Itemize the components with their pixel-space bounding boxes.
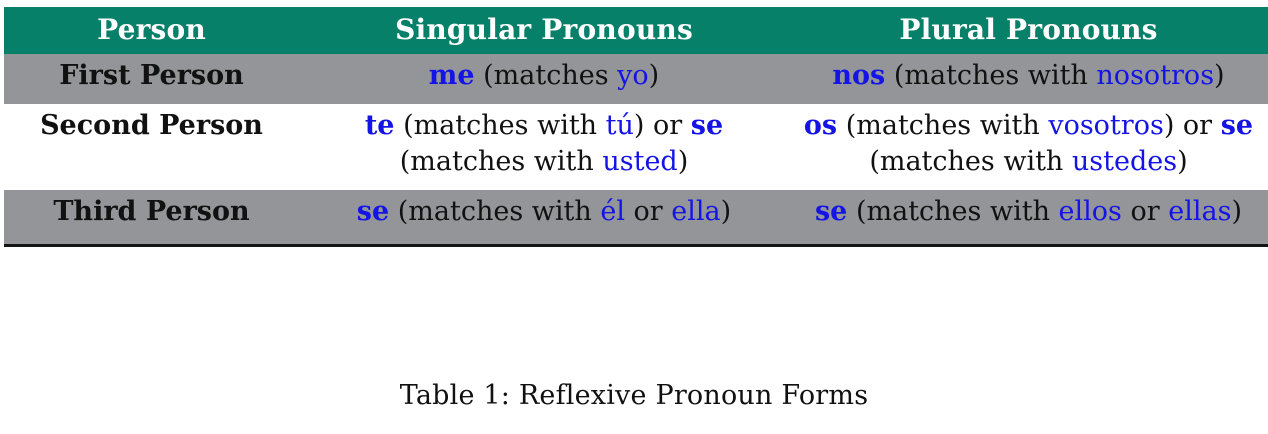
- table-container: Person Singular Pronouns Plural Pronouns…: [4, 7, 1268, 247]
- cell-text: ) or: [1164, 110, 1221, 141]
- subject-pronoun: nosotros: [1096, 60, 1214, 91]
- cell-text: (matches with: [389, 196, 600, 227]
- singular-pronoun-cell: se (matches with él or ella): [299, 190, 789, 245]
- cell-text: ): [1214, 60, 1225, 91]
- plural-pronoun-cell: os (matches with vosotros) or se (matche…: [789, 104, 1268, 190]
- reflexive-pronoun-table: Person Singular Pronouns Plural Pronouns…: [4, 7, 1268, 247]
- table-figure: Person Singular Pronouns Plural Pronouns…: [0, 0, 1268, 434]
- cell-text: (matches with: [837, 110, 1048, 141]
- subject-pronoun: usted: [602, 146, 677, 177]
- singular-pronoun-cell: te (matches with tú) or se (matches with…: [299, 104, 789, 190]
- cell-text: or: [625, 196, 671, 227]
- cell-text: ): [678, 146, 689, 177]
- subject-pronoun: yo: [617, 60, 649, 91]
- cell-text: (matches with: [394, 110, 605, 141]
- table-body: First Personme (matches yo)nos (matches …: [4, 54, 1268, 245]
- pronoun-form: se: [1221, 110, 1253, 141]
- pronoun-form: os: [804, 110, 837, 141]
- column-header-person: Person: [4, 7, 299, 54]
- pronoun-form: me: [429, 60, 475, 91]
- cell-text: (matches with: [869, 146, 1072, 177]
- table-row: Third Personse (matches with él or ella)…: [4, 190, 1268, 245]
- subject-pronoun: él: [600, 196, 625, 227]
- subject-pronoun: ella: [671, 196, 720, 227]
- pronoun-form: se: [815, 196, 847, 227]
- cell-text: (matches with: [847, 196, 1058, 227]
- singular-pronoun-cell: me (matches yo): [299, 54, 789, 104]
- cell-text: (matches: [475, 60, 618, 91]
- cell-text: ) or: [634, 110, 691, 141]
- pronoun-form: te: [365, 110, 395, 141]
- table-row: First Personme (matches yo)nos (matches …: [4, 54, 1268, 104]
- plural-pronoun-cell: nos (matches with nosotros): [789, 54, 1268, 104]
- cell-text: ): [1177, 146, 1188, 177]
- subject-pronoun: ustedes: [1072, 146, 1177, 177]
- plural-pronoun-cell: se (matches with ellos or ellas): [789, 190, 1268, 245]
- header-row: Person Singular Pronouns Plural Pronouns: [4, 7, 1268, 54]
- subject-pronoun: vosotros: [1048, 110, 1164, 141]
- subject-pronoun: ellos: [1059, 196, 1122, 227]
- cell-text: ): [1231, 196, 1242, 227]
- pronoun-form: nos: [832, 60, 885, 91]
- cell-text: ): [721, 196, 732, 227]
- cell-text: (matches with: [400, 146, 603, 177]
- cell-text: ): [649, 60, 660, 91]
- column-header-plural: Plural Pronouns: [789, 7, 1268, 54]
- table-row: Second Personte (matches with tú) or se …: [4, 104, 1268, 190]
- person-label: Third Person: [4, 190, 299, 245]
- table-header: Person Singular Pronouns Plural Pronouns: [4, 7, 1268, 54]
- cell-text: or: [1122, 196, 1168, 227]
- table-caption: Table 1: Reflexive Pronoun Forms: [0, 380, 1268, 411]
- pronoun-form: se: [357, 196, 389, 227]
- person-label: First Person: [4, 54, 299, 104]
- cell-text: (matches with: [885, 60, 1096, 91]
- subject-pronoun: tú: [606, 110, 634, 141]
- subject-pronoun: ellas: [1168, 196, 1231, 227]
- person-label: Second Person: [4, 104, 299, 190]
- column-header-singular: Singular Pronouns: [299, 7, 789, 54]
- pronoun-form: se: [691, 110, 723, 141]
